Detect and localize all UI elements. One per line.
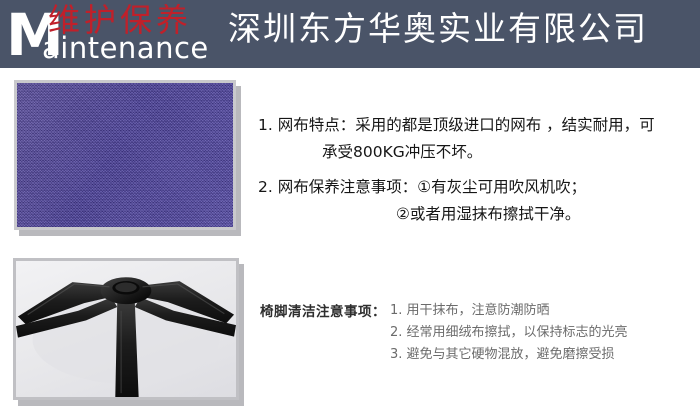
list-item: 1. 用干抹布，注意防潮防晒: [390, 300, 628, 322]
brand-block: M 维护保养 aintenance: [4, 0, 226, 68]
list-item: 3. 避免与其它硬物混放，避免磨擦受损: [390, 344, 628, 366]
mesh-note-2-line-2: ②或者用湿抹布擦拭干净。: [258, 201, 700, 228]
chair-base-notes-heading: 椅脚清洁注意事项：: [260, 300, 386, 323]
mesh-note-1-line-1: 1. 网布特点：采用的都是顶级进口的网布 ，结实耐用，可: [258, 112, 700, 139]
chair-base-notes-list: 1. 用干抹布，注意防潮防晒 2. 经常用细绒布擦拭，以保持标志的光亮 3. 避…: [386, 300, 628, 366]
mesh-note-1-line-2: 承受800KG冲压不坏。: [258, 139, 700, 166]
brand-title-english: aintenance: [42, 33, 209, 63]
mesh-note-2-line-1: 2. 网布保养注意事项：①有灰尘可用吹风机吹；: [258, 174, 700, 201]
chair-base-photo-inner: [16, 261, 236, 397]
text-column: 1. 网布特点：采用的都是顶级进口的网布 ，结实耐用，可 承受800KG冲压不坏…: [258, 0, 700, 416]
note-spacer: [258, 166, 700, 174]
mesh-fabric-texture: [17, 83, 233, 227]
mesh-maintenance-notes: 1. 网布特点：采用的都是顶级进口的网布 ，结实耐用，可 承受800KG冲压不坏…: [258, 112, 700, 228]
chair-base-cleaning-notes: 椅脚清洁注意事项： 1. 用干抹布，注意防潮防晒 2. 经常用细绒布擦拭，以保持…: [260, 300, 700, 366]
chair-base-illustration: [16, 261, 236, 397]
list-item: 2. 经常用细绒布擦拭，以保持标志的光亮: [390, 322, 628, 344]
mesh-fabric-photo: [14, 80, 236, 230]
chair-base-photo: [13, 258, 239, 400]
